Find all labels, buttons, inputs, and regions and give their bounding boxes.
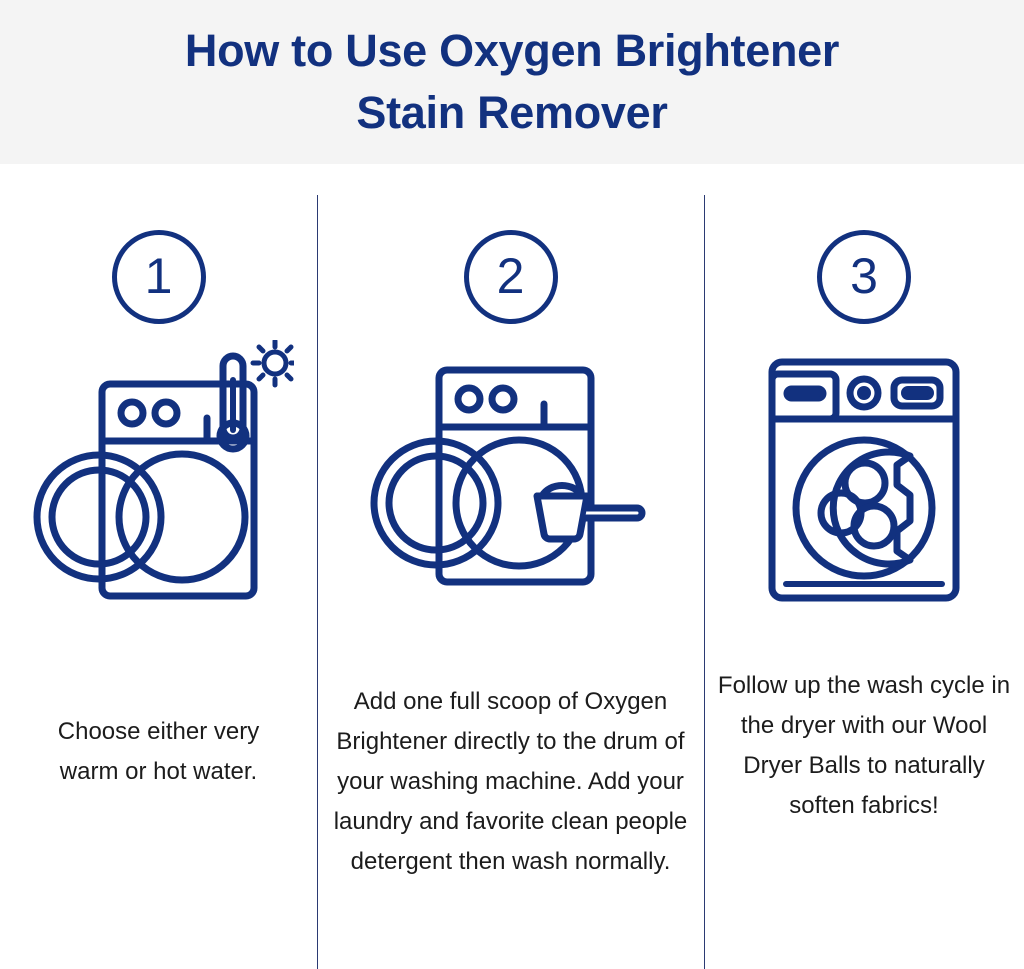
step-caption-3: Follow up the wash cycle in the dryer wi… bbox=[714, 666, 1014, 826]
step-number-label-3: 3 bbox=[850, 251, 878, 301]
step-illustration-1 bbox=[24, 340, 294, 640]
header-band: How to Use Oxygen Brightener Stain Remov… bbox=[0, 0, 1024, 164]
column-divider-1 bbox=[317, 195, 318, 969]
step-column-2: 2 bbox=[317, 164, 704, 882]
step-column-1: 1 bbox=[0, 164, 317, 792]
step-caption-2: Add one full scoop of Oxygen Brightener … bbox=[333, 682, 689, 882]
step-number-label-2: 2 bbox=[497, 251, 525, 301]
washing-machine-with-scoop-icon bbox=[361, 342, 661, 632]
step-illustration-2 bbox=[361, 342, 661, 632]
steps-area: 1 bbox=[0, 164, 1024, 969]
dryer-with-dryer-balls-icon bbox=[764, 356, 964, 604]
step-caption-1: Choose either very warm or hot water. bbox=[35, 712, 283, 792]
step-number-badge-1: 1 bbox=[112, 230, 206, 324]
step-number-badge-2: 2 bbox=[464, 230, 558, 324]
step-illustration-3 bbox=[764, 356, 964, 604]
step-column-3: 3 bbox=[704, 164, 1024, 826]
step-number-badge-3: 3 bbox=[817, 230, 911, 324]
step-number-label-1: 1 bbox=[145, 251, 173, 301]
column-divider-2 bbox=[704, 195, 705, 969]
page-title-line-1: How to Use Oxygen Brightener bbox=[185, 20, 839, 82]
washing-machine-with-thermometer-icon bbox=[24, 340, 294, 640]
page-title-line-2: Stain Remover bbox=[356, 82, 667, 144]
